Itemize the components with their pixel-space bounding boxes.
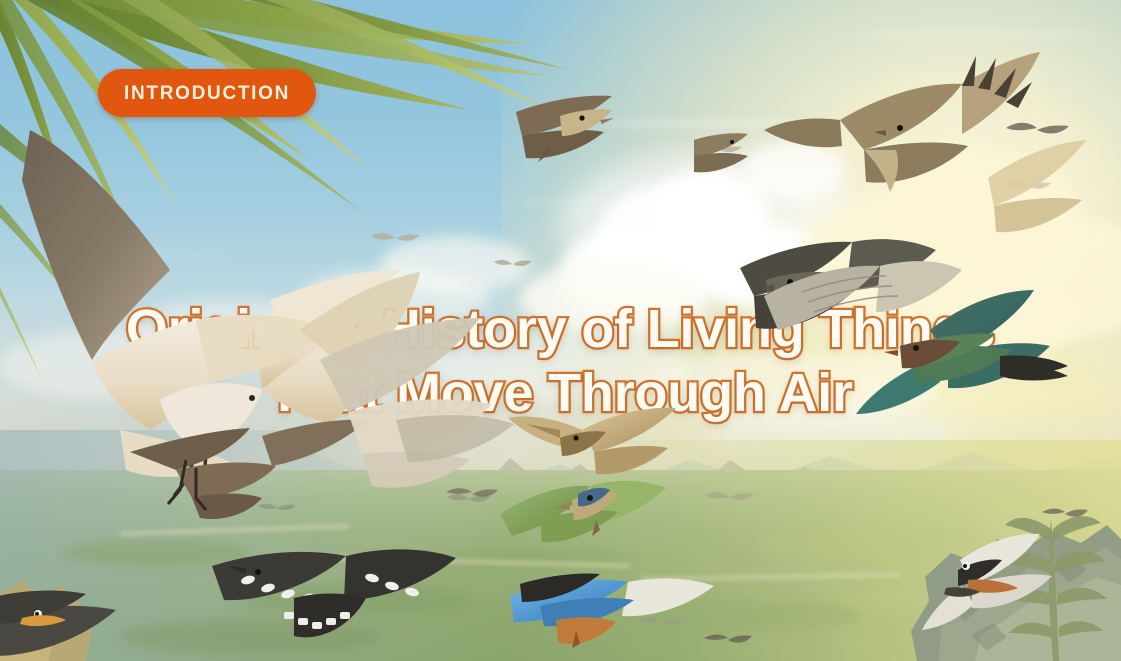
bird-swift-topcenter [516, 96, 614, 162]
bird-small-topright [694, 133, 748, 172]
title-slide: INTRODUCTION Origins & History of Living… [0, 0, 1121, 661]
bird-blue-white-right [922, 534, 1052, 630]
bird-blue-bottom [510, 573, 714, 648]
bird-darkgrey-corner [0, 591, 116, 656]
bird-distant-group [1006, 123, 1069, 134]
bird-tan-center [508, 408, 676, 475]
bird-raptor-topright [764, 52, 1040, 192]
birds-foreground-layer [0, 0, 1121, 661]
bird-green-center [500, 481, 666, 542]
bird-spotted-bottom [212, 549, 456, 637]
bird-glider-topright [988, 140, 1086, 232]
